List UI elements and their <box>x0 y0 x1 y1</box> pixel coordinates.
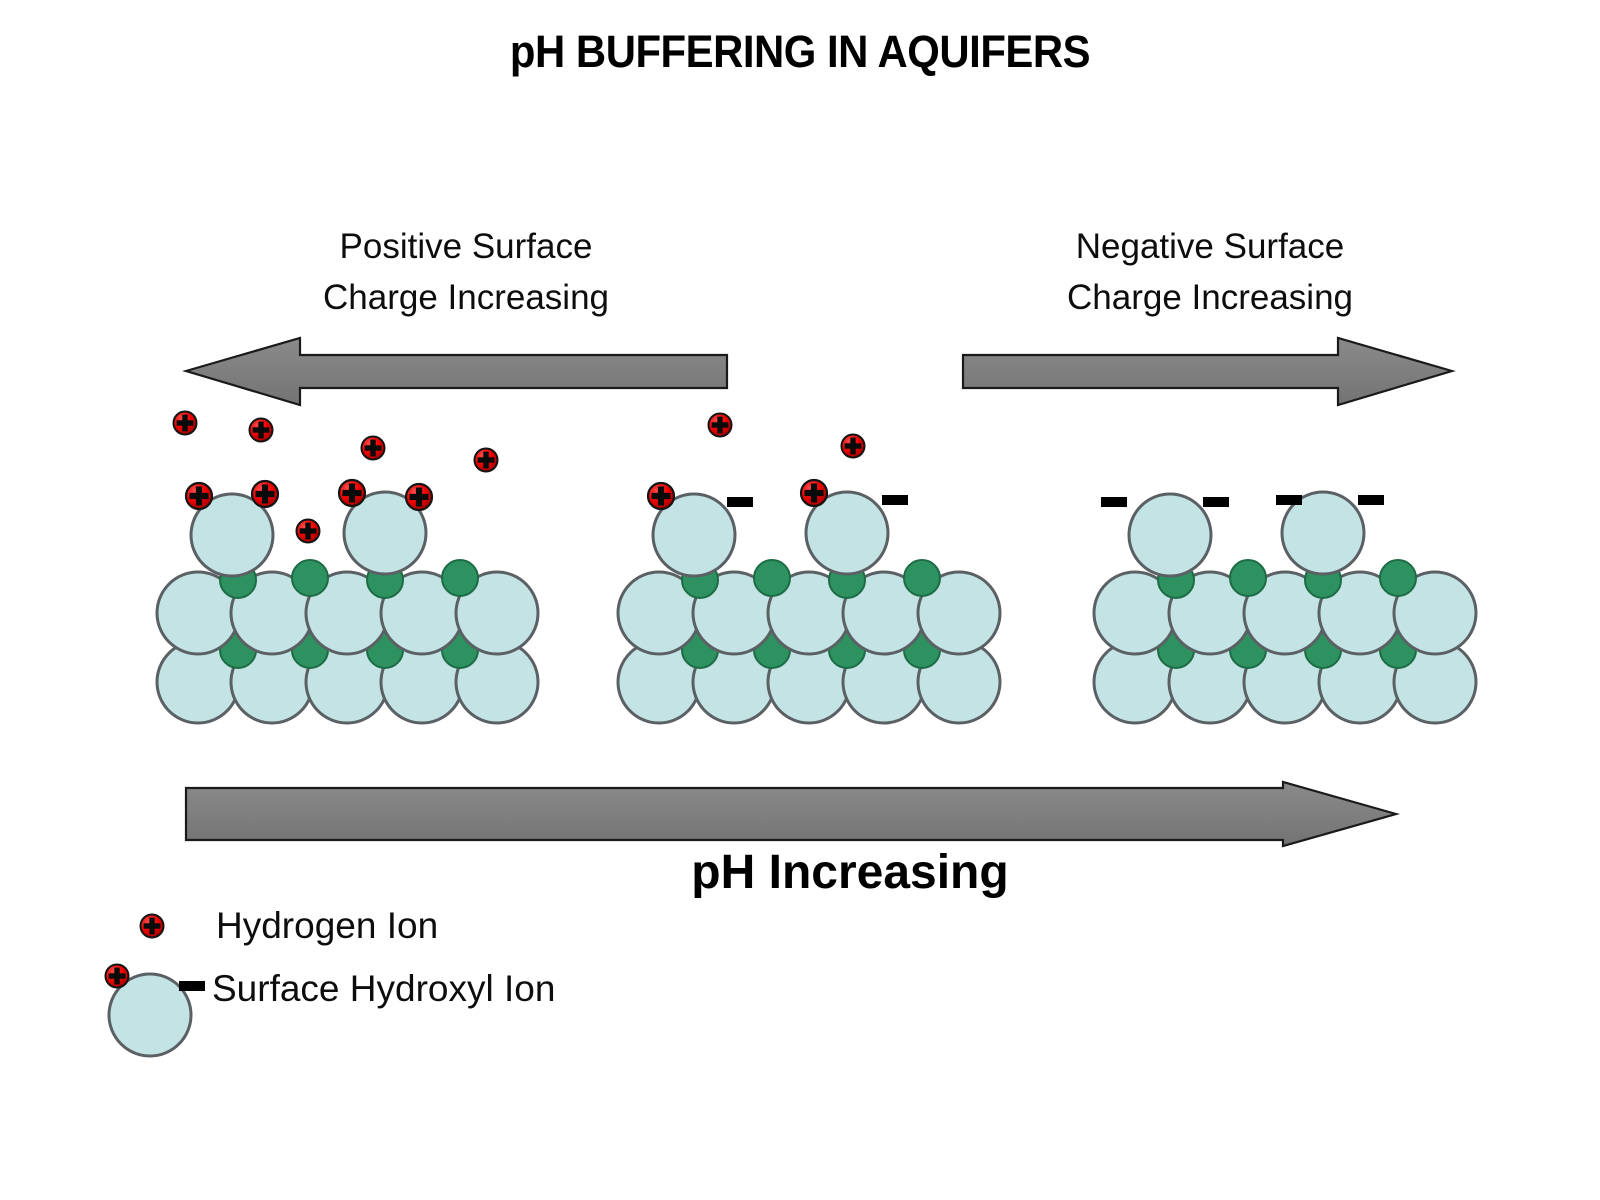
hydroxyl-sphere <box>918 641 1000 723</box>
minus-charge-icon <box>1101 497 1127 507</box>
green-ion <box>442 560 478 596</box>
green-ion <box>367 562 403 598</box>
hydroxyl-sphere <box>1094 641 1176 723</box>
hydroxyl-sphere <box>231 572 313 654</box>
hydroxyl-sphere <box>918 572 1000 654</box>
interlayer-green-ions-lower <box>1158 632 1416 668</box>
negative-charge-label-line2: Charge Increasing <box>1067 278 1353 317</box>
hydroxyl-sphere <box>381 641 463 723</box>
page-title: pH BUFFERING IN AQUIFERS <box>56 26 1544 78</box>
positive-charge-label-line2: Charge Increasing <box>323 278 609 317</box>
surface-hydroxyl-sphere <box>806 492 888 574</box>
interlayer-green-ions-lower <box>220 632 478 668</box>
lattice-row-bottom <box>157 641 538 723</box>
hydroxyl-sphere <box>618 572 700 654</box>
hydroxyl-sphere <box>768 641 850 723</box>
lattice-row-middle <box>157 572 538 654</box>
negative-charge-label: Negative Surface Charge Increasing <box>985 221 1435 323</box>
hydrogen-ion <box>339 480 365 506</box>
hydroxyl-sphere <box>693 641 775 723</box>
hydrogen-ion <box>297 520 320 543</box>
hydroxyl-sphere <box>1319 641 1401 723</box>
hydroxyl-sphere <box>1319 572 1401 654</box>
negative-charge-increasing-arrow <box>963 338 1452 405</box>
hydroxyl-sphere <box>693 572 775 654</box>
surface-hydroxyl-sphere <box>1282 492 1364 574</box>
diagram-canvas: pH BUFFERING IN AQUIFERS Positive Surfac… <box>0 0 1600 1200</box>
free-hydrogen-ions <box>709 414 865 458</box>
ph-increasing-caption: pH Increasing <box>430 845 1270 900</box>
hydroxyl-sphere <box>1394 641 1476 723</box>
hydroxyl-sphere <box>381 572 463 654</box>
green-ion <box>220 632 256 668</box>
hydrogen-ion <box>362 437 385 460</box>
green-ion <box>1158 632 1194 668</box>
lattice-row-bottom <box>1094 641 1476 723</box>
hydroxyl-sphere <box>157 641 239 723</box>
legend-label-surface-hydroxyl-ion: Surface Hydroxyl Ion <box>212 968 555 1010</box>
bound-hydrogen-ions <box>186 480 432 510</box>
hydroxyl-sphere <box>456 641 538 723</box>
legend-icon-surface-hydroxyl-ion <box>106 965 206 1057</box>
green-ion <box>1230 560 1266 596</box>
surface-hydroxyl-sphere <box>191 494 273 576</box>
hydrogen-ion <box>106 965 129 988</box>
green-ion <box>904 632 940 668</box>
green-ion <box>367 632 403 668</box>
hydroxyl-sphere <box>109 974 191 1056</box>
green-ion <box>1380 632 1416 668</box>
hydrogen-ion <box>801 480 827 506</box>
surface-green-ions <box>1158 560 1416 598</box>
surface-hydroxyl-sphere <box>653 494 735 576</box>
neutral-ph-cluster <box>618 414 1000 724</box>
lattice-row-bottom <box>618 641 1000 723</box>
hydroxyl-sphere <box>1094 572 1176 654</box>
hydrogen-ion <box>709 414 732 437</box>
green-ion <box>1230 632 1266 668</box>
surface-green-ions <box>682 560 940 598</box>
minus-charge-icon <box>1358 495 1384 505</box>
minus-charge-icon <box>179 981 205 991</box>
negative-charge-symbols <box>1101 495 1384 507</box>
hydrogen-ion <box>406 484 432 510</box>
lattice-row-middle <box>618 572 1000 654</box>
interlayer-green-ions-lower <box>682 632 940 668</box>
hydroxyl-sphere <box>843 572 925 654</box>
green-ion <box>1380 560 1416 596</box>
lattice-row-middle <box>1094 572 1476 654</box>
green-ion <box>754 560 790 596</box>
surface-hydroxyl-sphere <box>1129 494 1211 576</box>
green-ion <box>754 632 790 668</box>
green-ion <box>829 562 865 598</box>
legend <box>106 915 206 1057</box>
hydrogen-ion <box>186 483 212 509</box>
positive-charge-increasing-arrow <box>186 338 727 405</box>
hydroxyl-sphere <box>231 641 313 723</box>
hydroxyl-sphere <box>157 572 239 654</box>
hydroxyl-sphere <box>306 572 388 654</box>
hydroxyl-sphere <box>1244 641 1326 723</box>
green-ion <box>292 632 328 668</box>
high-ph-cluster <box>1094 492 1476 723</box>
minus-charge-icon <box>1276 495 1302 505</box>
hydrogen-ion <box>174 412 197 435</box>
green-ion <box>1305 632 1341 668</box>
green-ion <box>292 560 328 596</box>
ph-increasing-arrow <box>186 782 1396 846</box>
legend-icon-hydrogen-ion <box>141 915 164 938</box>
positive-charge-label-line1: Positive Surface <box>340 227 593 266</box>
hydrogen-ion <box>252 481 278 507</box>
minus-charge-icon <box>882 495 908 505</box>
negative-charge-symbols <box>727 495 908 507</box>
hydroxyl-sphere <box>1394 572 1476 654</box>
diagram-graphics <box>0 0 1600 1200</box>
hydrogen-ion <box>475 449 498 472</box>
hydroxyl-sphere <box>456 572 538 654</box>
minus-charge-icon <box>1203 497 1229 507</box>
bound-hydrogen-ions <box>648 480 827 509</box>
green-ion <box>682 632 718 668</box>
low-ph-cluster <box>157 412 538 724</box>
negative-charge-label-line1: Negative Surface <box>1076 227 1344 266</box>
green-ion <box>904 560 940 596</box>
green-ion <box>1305 562 1341 598</box>
hydroxyl-sphere <box>1169 641 1251 723</box>
hydroxyl-sphere <box>843 641 925 723</box>
surface-green-ions <box>220 560 478 598</box>
hydroxyl-sphere <box>1169 572 1251 654</box>
green-ion <box>1158 562 1194 598</box>
positive-charge-label: Positive Surface Charge Increasing <box>246 221 686 323</box>
hydroxyl-sphere <box>618 641 700 723</box>
hydrogen-ion <box>250 419 273 442</box>
green-ion <box>682 562 718 598</box>
hydrogen-ion <box>842 435 865 458</box>
green-ion <box>829 632 865 668</box>
green-ion <box>220 562 256 598</box>
hydroxyl-sphere <box>768 572 850 654</box>
surface-hydroxyl-sphere <box>344 492 426 574</box>
minus-charge-icon <box>727 497 753 507</box>
legend-label-hydrogen-ion: Hydrogen Ion <box>216 905 438 947</box>
hydroxyl-sphere <box>306 641 388 723</box>
hydroxyl-sphere <box>1244 572 1326 654</box>
green-ion <box>442 632 478 668</box>
hydrogen-ion <box>648 483 674 509</box>
free-hydrogen-ions <box>174 412 498 543</box>
